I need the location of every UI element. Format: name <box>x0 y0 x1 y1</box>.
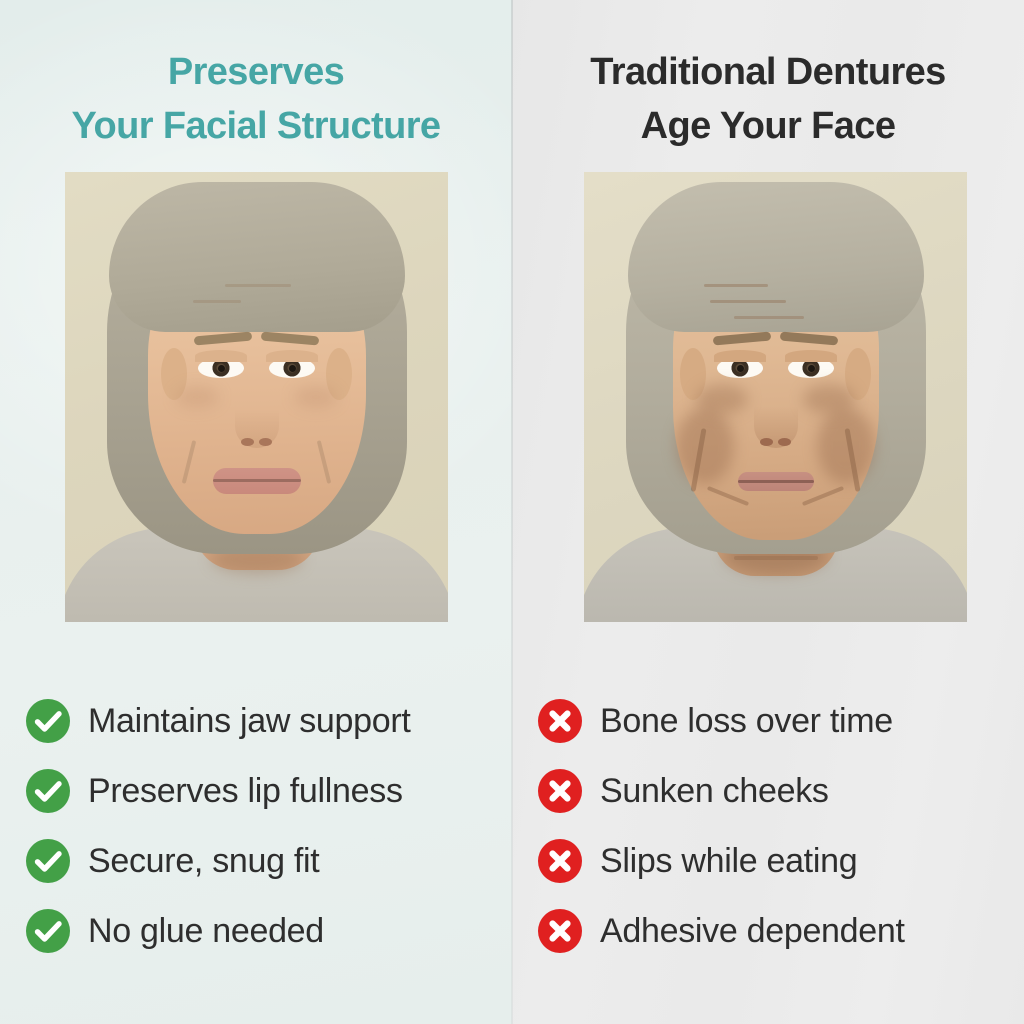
left-nose <box>235 384 279 448</box>
list-item-label: Secure, snug fit <box>88 842 319 881</box>
right-forehead-line-1 <box>704 284 768 287</box>
left-nostril-right <box>259 438 272 446</box>
right-pupil-left <box>737 365 744 372</box>
list-item-label: No glue needed <box>88 912 324 951</box>
list-item[interactable]: Slips while eating <box>538 826 998 896</box>
left-benefit-list: Maintains jaw support Preserves lip full… <box>26 686 486 966</box>
right-forehead-line-2 <box>710 300 786 303</box>
list-item-label: Sunken cheeks <box>600 772 829 811</box>
left-forehead-line-2 <box>225 284 291 287</box>
list-item[interactable]: Secure, snug fit <box>26 826 486 896</box>
left-nostril-left <box>241 438 254 446</box>
left-figure <box>65 172 448 622</box>
right-heading-line-1: Traditional Dentures <box>512 46 1024 100</box>
comparison-infographic: Preserves Your Facial Structure Traditio… <box>0 0 1024 1024</box>
list-item[interactable]: Sunken cheeks <box>538 756 998 826</box>
left-heading-line-2: Your Facial Structure <box>0 100 512 154</box>
right-nostril-right <box>778 438 791 446</box>
left-fringe <box>109 182 405 332</box>
list-item-label: Slips while eating <box>600 842 857 881</box>
right-figure <box>584 172 967 622</box>
list-item[interactable]: No glue needed <box>26 896 486 966</box>
left-iris-left <box>213 360 230 377</box>
left-undereye-left <box>175 386 219 408</box>
list-item-label: Adhesive dependent <box>600 912 905 951</box>
check-circle-icon <box>26 909 70 953</box>
right-heading-line-2: Age Your Face <box>512 100 1024 154</box>
right-nostril-left <box>760 438 773 446</box>
left-iris-right <box>284 360 301 377</box>
right-sunken-cheek-right <box>817 408 875 484</box>
list-item-label: Maintains jaw support <box>88 702 411 741</box>
check-circle-icon <box>26 699 70 743</box>
left-lid-right <box>266 350 318 362</box>
list-item[interactable]: Maintains jaw support <box>26 686 486 756</box>
left-heading: Preserves Your Facial Structure <box>0 46 512 154</box>
left-undereye-right <box>294 386 338 408</box>
list-item[interactable]: Adhesive dependent <box>538 896 998 966</box>
right-portrait-photo <box>584 172 967 622</box>
right-lip-line <box>738 480 814 483</box>
check-circle-icon <box>26 769 70 813</box>
check-circle-icon <box>26 839 70 883</box>
right-neck-line <box>734 556 818 560</box>
right-sunken-cheek-left <box>676 408 734 484</box>
right-drawback-list: Bone loss over time Sunken cheeks Slips … <box>538 686 998 966</box>
left-pupil-right <box>289 365 296 372</box>
right-iris-left <box>732 360 749 377</box>
list-item[interactable]: Bone loss over time <box>538 686 998 756</box>
x-circle-icon <box>538 699 582 743</box>
left-lip-line <box>213 479 301 482</box>
x-circle-icon <box>538 909 582 953</box>
right-undereye-left <box>696 384 748 414</box>
right-iris-right <box>803 360 820 377</box>
right-nose <box>754 384 798 448</box>
right-undereye-right <box>803 384 855 414</box>
left-pupil-left <box>218 365 225 372</box>
left-forehead-line-1 <box>193 300 241 303</box>
right-lid-left <box>714 350 766 362</box>
right-pupil-right <box>808 365 815 372</box>
left-lid-left <box>195 350 247 362</box>
right-fringe <box>628 182 924 332</box>
list-item-label: Bone loss over time <box>600 702 893 741</box>
x-circle-icon <box>538 839 582 883</box>
right-heading: Traditional Dentures Age Your Face <box>512 46 1024 154</box>
right-forehead-line-3 <box>734 316 804 319</box>
left-portrait-photo <box>65 172 448 622</box>
x-circle-icon <box>538 769 582 813</box>
right-lid-right <box>785 350 837 362</box>
left-heading-line-1: Preserves <box>0 46 512 100</box>
list-item[interactable]: Preserves lip fullness <box>26 756 486 826</box>
list-item-label: Preserves lip fullness <box>88 772 403 811</box>
